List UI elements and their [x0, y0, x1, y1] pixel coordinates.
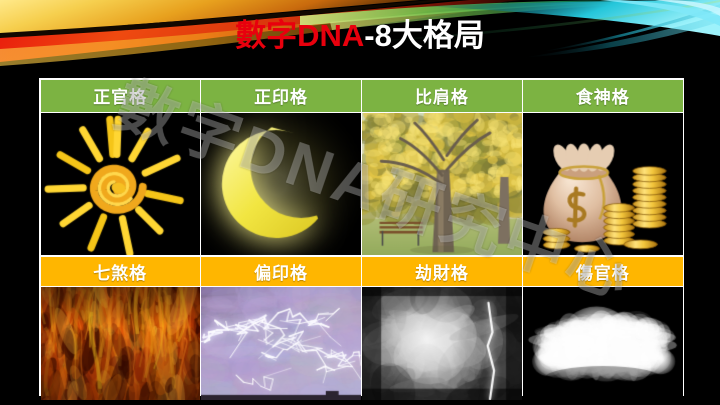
cell-header-七煞格: 七煞格 [41, 257, 200, 286]
moon-icon [201, 113, 360, 255]
cell-header-比肩格: 比肩格 [362, 80, 521, 112]
pattern-grid: 正官格 正印格 比肩格 食神格 七煞格 偏印格 劫財格 傷官格 [39, 78, 684, 396]
cloud-photo [523, 287, 682, 400]
title-white-part: -8大格局 [364, 18, 485, 53]
cell-header-傷官格: 傷官格 [523, 257, 682, 286]
page-title: 數字DNA-8大格局 [0, 18, 720, 54]
title-red-part: 數字DNA [235, 18, 364, 53]
lightning-photo [201, 287, 360, 400]
stormcloud-photo [362, 287, 521, 400]
cell-header-正印格: 正印格 [201, 80, 360, 112]
sun-icon [41, 113, 200, 255]
cell-header-偏印格: 偏印格 [201, 257, 360, 286]
cell-header-正官格: 正官格 [41, 80, 200, 112]
tree-photo [362, 113, 521, 255]
cell-header-食神格: 食神格 [523, 80, 682, 112]
presentation-slide: 數字DNA研究中心 數字DNA-8大格局 正官格 正印格 比肩格 食神格 七煞格… [0, 0, 720, 405]
moneybag-icon [523, 113, 682, 255]
cell-header-劫財格: 劫財格 [362, 257, 521, 286]
fire-photo [41, 287, 200, 400]
